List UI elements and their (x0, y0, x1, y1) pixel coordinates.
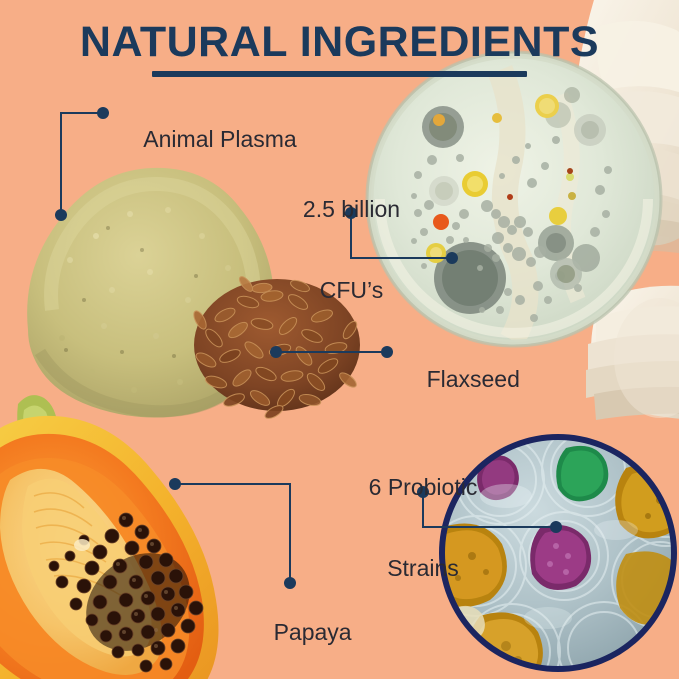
callout-label-probiotic-line2: Strains (340, 555, 506, 582)
callout-label-cfu-line2: CFU’s (280, 277, 423, 304)
callout-label-probiotic-line1: 6 Probiotic (340, 474, 506, 501)
leader-line-papaya (169, 478, 296, 589)
callout-label-cfu: 2.5 billion CFU’s (280, 142, 423, 358)
callout-label-cfu-line1: 2.5 billion (280, 196, 423, 223)
callout-label-flaxseed: Flaxseed (401, 339, 520, 420)
callout-label-papaya-line1: Papaya (274, 619, 352, 645)
callout-label-papaya: Papaya (248, 592, 352, 673)
callout-label-probiotic-strains: 6 Probiotic Strains (340, 420, 506, 636)
leader-line-animal-plasma (55, 107, 109, 221)
page-title: NATURAL INGREDIENTS (0, 18, 679, 67)
callout-label-animal-plasma: Animal Plasma (119, 99, 297, 180)
callout-label-flaxseed-line1: Flaxseed (427, 366, 520, 392)
callout-label-animal-plasma-line1: Animal Plasma (143, 126, 296, 152)
infographic-canvas: NATURAL INGREDIENTS Animal Plasma 2.5 bi… (0, 0, 679, 679)
title-underline-rule (152, 71, 527, 77)
